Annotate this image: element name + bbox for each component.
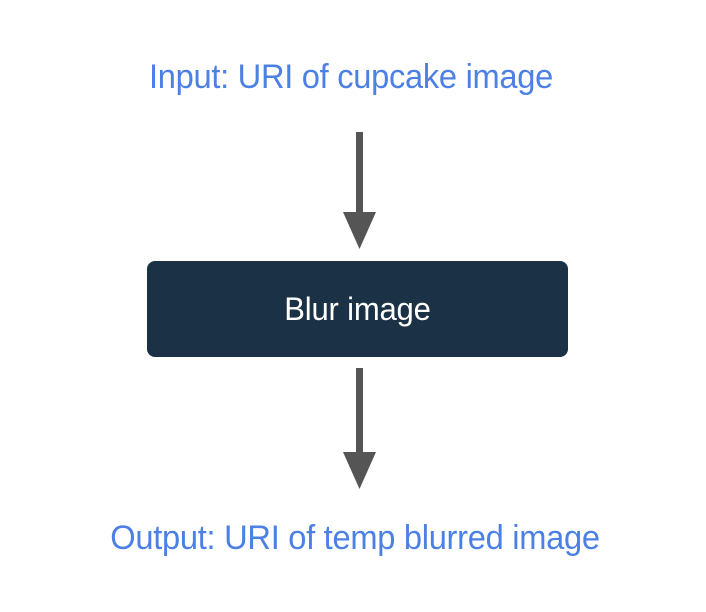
output-endpoint-label: Output: URI of temp blurred image: [16, 515, 694, 561]
arrow-shaft-top: [356, 132, 363, 216]
process-node-label: Blur image: [284, 290, 430, 328]
process-node-blur-image[interactable]: Blur image: [147, 261, 568, 357]
arrowhead-down-icon: [343, 452, 376, 489]
arrow-shaft-bottom: [356, 368, 363, 453]
input-endpoint-label: Input: URI of cupcake image: [12, 54, 690, 100]
arrowhead-down-icon: [343, 212, 376, 249]
diagram-canvas: Input: URI of cupcake image Blur image O…: [0, 0, 706, 612]
